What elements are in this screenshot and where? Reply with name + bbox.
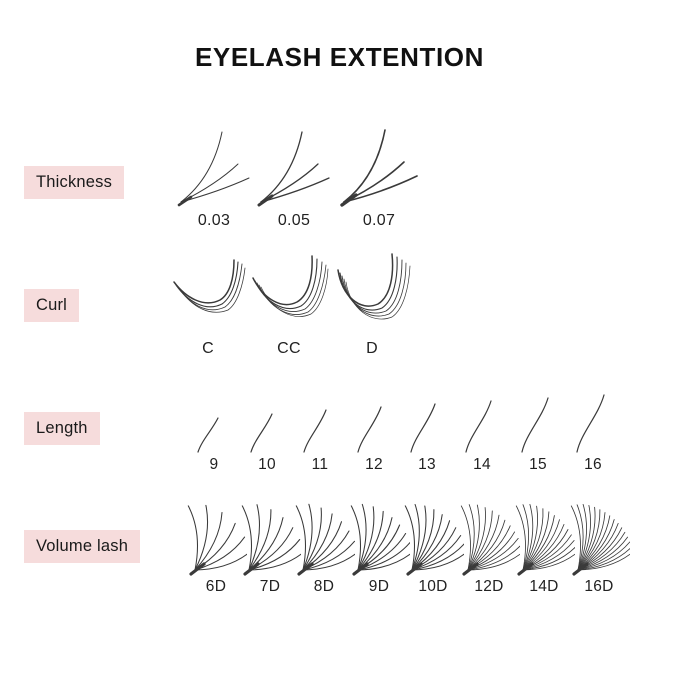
thickness-cell-1: 0.05: [255, 118, 333, 230]
thickness-fan-icon-0: [175, 118, 253, 210]
volume-cell-5: 12D: [458, 496, 520, 596]
volume-caption-5: 12D: [458, 578, 520, 596]
thickness-fan-icon-1: [255, 118, 333, 210]
length-cell-7: 16: [569, 392, 617, 474]
row-label-length-text: Length: [36, 419, 88, 438]
length-cell-3: 12: [350, 392, 398, 474]
curl-icon-d: [332, 252, 412, 338]
curl-cell-1: CC: [249, 252, 329, 358]
length-lash-icon-14: [458, 392, 506, 454]
length-cell-2: 11: [296, 392, 344, 474]
volume-caption-1: 7D: [239, 578, 301, 596]
thickness-caption-2: 0.07: [338, 212, 420, 230]
thickness-caption-0: 0.03: [175, 212, 253, 230]
thickness-cell-2: 0.07: [338, 118, 420, 230]
length-lash-icon-15: [514, 392, 562, 454]
volume-fan-icon-10d: [402, 496, 464, 576]
row-label-length: Length: [24, 412, 100, 445]
volume-cell-7: 16D: [568, 496, 630, 596]
volume-cell-6: 14D: [513, 496, 575, 596]
length-lash-icon-13: [403, 392, 451, 454]
volume-fan-icon-16d: [568, 496, 630, 576]
volume-fan-icon-6d: [185, 496, 247, 576]
length-caption-2: 11: [296, 456, 344, 474]
volume-cell-0: 6D: [185, 496, 247, 596]
length-cell-0: 9: [190, 392, 238, 474]
curl-caption-1: CC: [249, 340, 329, 358]
volume-fan-icon-12d: [458, 496, 520, 576]
length-cell-1: 10: [243, 392, 291, 474]
length-caption-5: 14: [458, 456, 506, 474]
volume-fan-icon-9d: [348, 496, 410, 576]
curl-cell-2: D: [332, 252, 412, 358]
row-curl: C CC D: [170, 252, 430, 357]
row-label-thickness: Thickness: [24, 166, 124, 199]
volume-caption-0: 6D: [185, 578, 247, 596]
curl-icon-cc: [249, 252, 329, 338]
row-label-curl-text: Curl: [36, 296, 67, 315]
length-caption-1: 10: [243, 456, 291, 474]
row-thickness: 0.03 0.05 0.07: [175, 118, 455, 238]
volume-cell-3: 9D: [348, 496, 410, 596]
length-caption-6: 15: [514, 456, 562, 474]
volume-fan-icon-7d: [239, 496, 301, 576]
volume-cell-4: 10D: [402, 496, 464, 596]
row-label-volume-lash-text: Volume lash: [36, 537, 128, 556]
length-caption-7: 16: [569, 456, 617, 474]
volume-caption-4: 10D: [402, 578, 464, 596]
volume-caption-6: 14D: [513, 578, 575, 596]
length-lash-icon-12: [350, 392, 398, 454]
volume-caption-7: 16D: [568, 578, 630, 596]
page-title: EYELASH EXTENTION: [0, 42, 679, 73]
length-lash-icon-9: [190, 392, 238, 454]
length-lash-icon-11: [296, 392, 344, 454]
length-lash-icon-10: [243, 392, 291, 454]
row-length: 9 10 11 12 13: [190, 392, 640, 482]
length-caption-3: 12: [350, 456, 398, 474]
thickness-cell-0: 0.03: [175, 118, 253, 230]
volume-caption-3: 9D: [348, 578, 410, 596]
length-cell-6: 15: [514, 392, 562, 474]
length-lash-icon-16: [569, 392, 617, 454]
length-cell-4: 13: [403, 392, 451, 474]
volume-caption-2: 8D: [293, 578, 355, 596]
volume-cell-1: 7D: [239, 496, 301, 596]
row-label-curl: Curl: [24, 289, 79, 322]
volume-cell-2: 8D: [293, 496, 355, 596]
curl-cell-0: C: [170, 252, 246, 358]
thickness-caption-1: 0.05: [255, 212, 333, 230]
length-cell-5: 14: [458, 392, 506, 474]
curl-caption-2: D: [332, 340, 412, 358]
thickness-fan-icon-2: [338, 118, 420, 210]
curl-icon-c: [170, 252, 246, 338]
curl-caption-0: C: [170, 340, 246, 358]
row-label-volume-lash: Volume lash: [24, 530, 140, 563]
length-caption-0: 9: [190, 456, 238, 474]
volume-fan-icon-14d: [513, 496, 575, 576]
row-volume-lash: 6D 7D 8D 9D 10D 12D 14D 16D: [185, 496, 640, 606]
eyelash-extension-chart: EYELASH EXTENTION Thickness 0.03 0.05: [0, 0, 679, 679]
row-label-thickness-text: Thickness: [36, 173, 112, 192]
length-caption-4: 13: [403, 456, 451, 474]
volume-fan-icon-8d: [293, 496, 355, 576]
